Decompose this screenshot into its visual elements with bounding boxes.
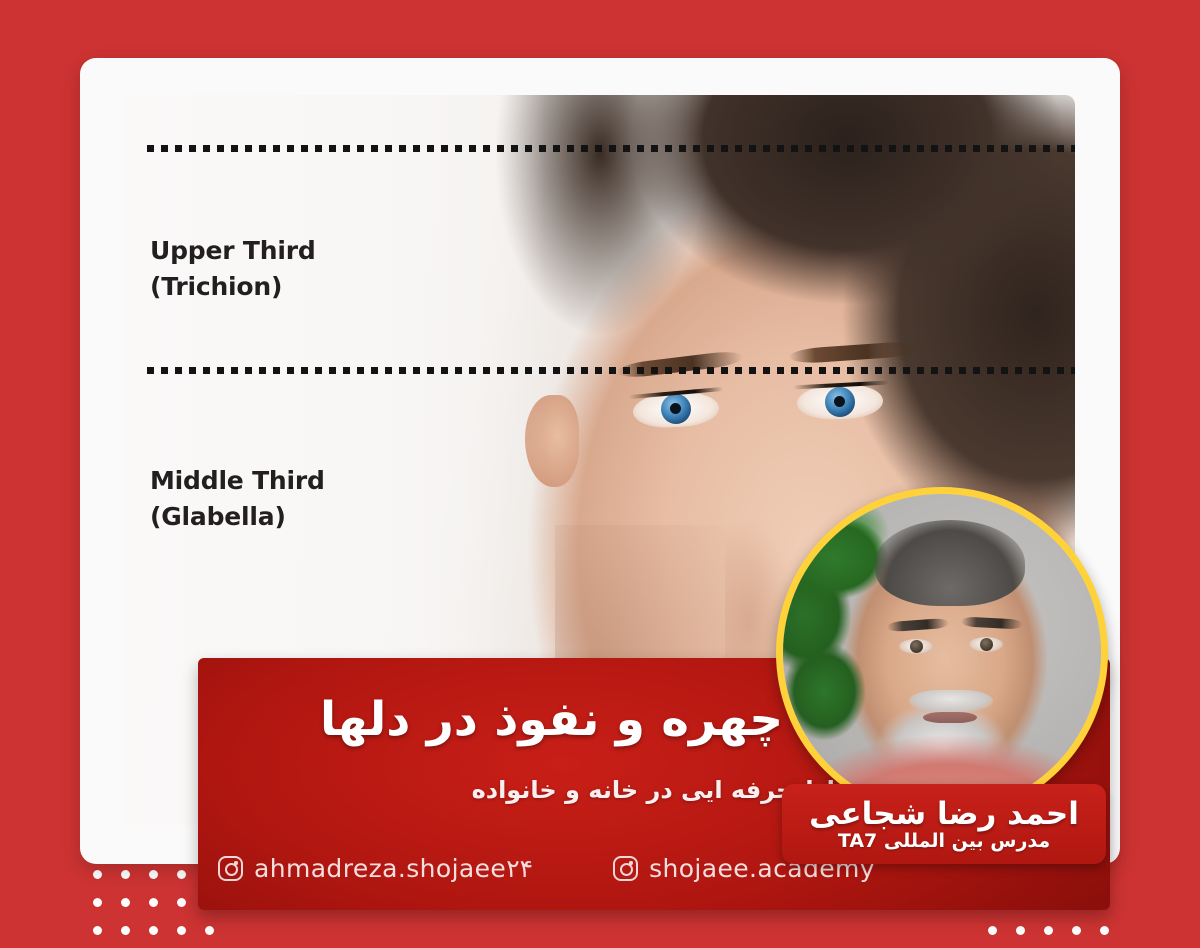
social-handle-personal[interactable]: ahmadreza.shojaee۲۴ [218, 854, 533, 883]
label-upper-third-line2: (Trichion) [150, 269, 316, 305]
dot [93, 870, 102, 879]
social-handle-personal-text: ahmadreza.shojaee۲۴ [254, 854, 533, 883]
dot [149, 870, 158, 879]
presenter-nameplate: احمد رضا شجاعی مدرس بین المللی TA7 [782, 784, 1106, 864]
presenter-role: مدرس بین المللی TA7 [838, 831, 1050, 852]
dot [149, 926, 158, 935]
dot [1044, 926, 1053, 935]
label-upper-third: Upper Third (Trichion) [150, 233, 316, 304]
dot [1100, 926, 1109, 935]
pupil-left [670, 403, 681, 414]
dot [988, 926, 997, 935]
presenter-name: احمد رضا شجاعی [809, 798, 1079, 830]
dot [1072, 926, 1081, 935]
dot [177, 926, 186, 935]
dot [93, 926, 102, 935]
guide-line-glabella [147, 367, 1075, 374]
pupil-right [834, 396, 845, 407]
dot [121, 870, 130, 879]
dot [149, 898, 158, 907]
label-middle-third-line2: (Glabella) [150, 499, 325, 535]
instagram-icon [218, 856, 243, 881]
presenter-mouth [923, 712, 977, 723]
dot [121, 898, 130, 907]
dot [177, 870, 186, 879]
presenter-avatar [776, 487, 1108, 819]
dot [177, 898, 186, 907]
dot [93, 898, 102, 907]
label-middle-third-line1: Middle Third [150, 463, 325, 499]
presenter-iris-right [980, 638, 993, 651]
presenter-moustache [909, 690, 993, 712]
presenter-iris-left [910, 640, 923, 653]
social-handles: ahmadreza.shojaee۲۴ shojaee.academy [218, 854, 875, 883]
guide-line-trichion [147, 145, 1075, 152]
presenter-hair [875, 520, 1025, 606]
label-upper-third-line1: Upper Third [150, 233, 316, 269]
label-middle-third: Middle Third (Glabella) [150, 463, 325, 534]
poster-root: { "poster": { "background_color": "#cc33… [0, 0, 1200, 948]
dot [205, 926, 214, 935]
decorative-dot-grid-left [93, 870, 215, 936]
instagram-icon [613, 856, 638, 881]
dot [121, 926, 130, 935]
dot [1016, 926, 1025, 935]
